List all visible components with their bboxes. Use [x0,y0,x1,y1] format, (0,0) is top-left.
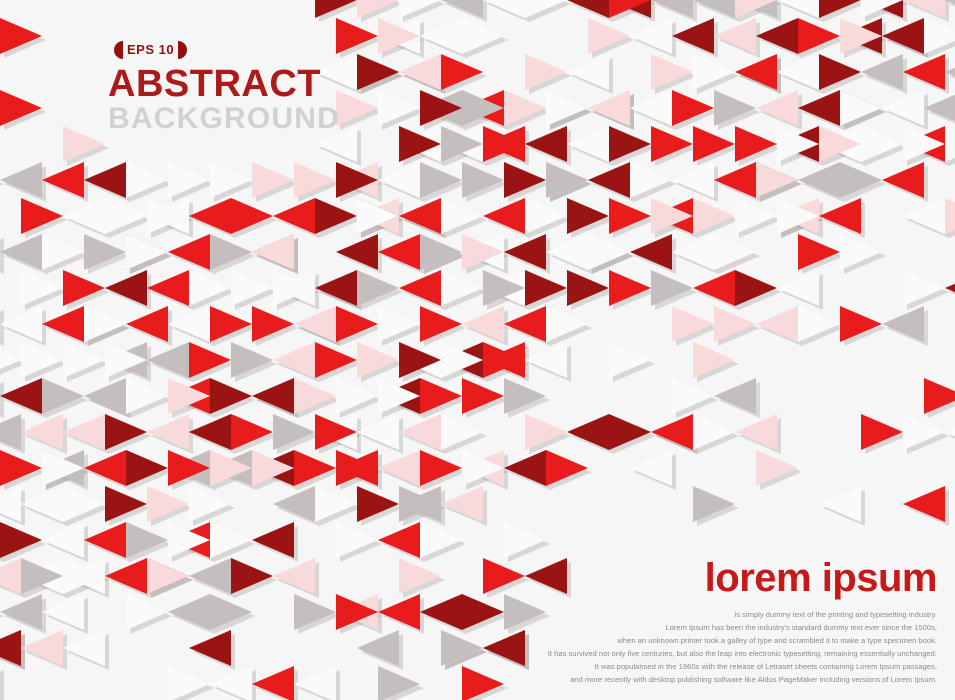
eps-badge-label: EPS 10 [123,41,178,59]
footer-line: when an unknown printer took a galley of… [517,634,937,647]
eps-badge: EPS 10 [108,40,193,60]
footer-line: and more recently with desktop publishin… [517,673,937,686]
footer-line: It has survived not only five centuries,… [517,647,937,660]
heading-block: EPS 10 ABSTRACT BACKGROUND [108,40,340,135]
page-title: ABSTRACT [108,66,340,103]
footer-line: is simply dummy text of the printing and… [517,608,937,621]
page-subtitle: BACKGROUND [108,103,340,135]
footer-title: lorem ipsum [517,558,937,598]
badge-cap-right-icon [178,41,187,59]
poster-canvas: EPS 10 ABSTRACT BACKGROUND lorem ipsum i… [0,0,955,700]
footer-block: lorem ipsum is simply dummy text of the … [517,558,937,686]
footer-paragraph: is simply dummy text of the printing and… [517,608,937,686]
badge-cap-left-icon [114,41,123,59]
footer-line: It was popularised in the 1960s with the… [517,660,937,673]
footer-line: Lorem Ipsum has been the industry's stan… [517,621,937,634]
